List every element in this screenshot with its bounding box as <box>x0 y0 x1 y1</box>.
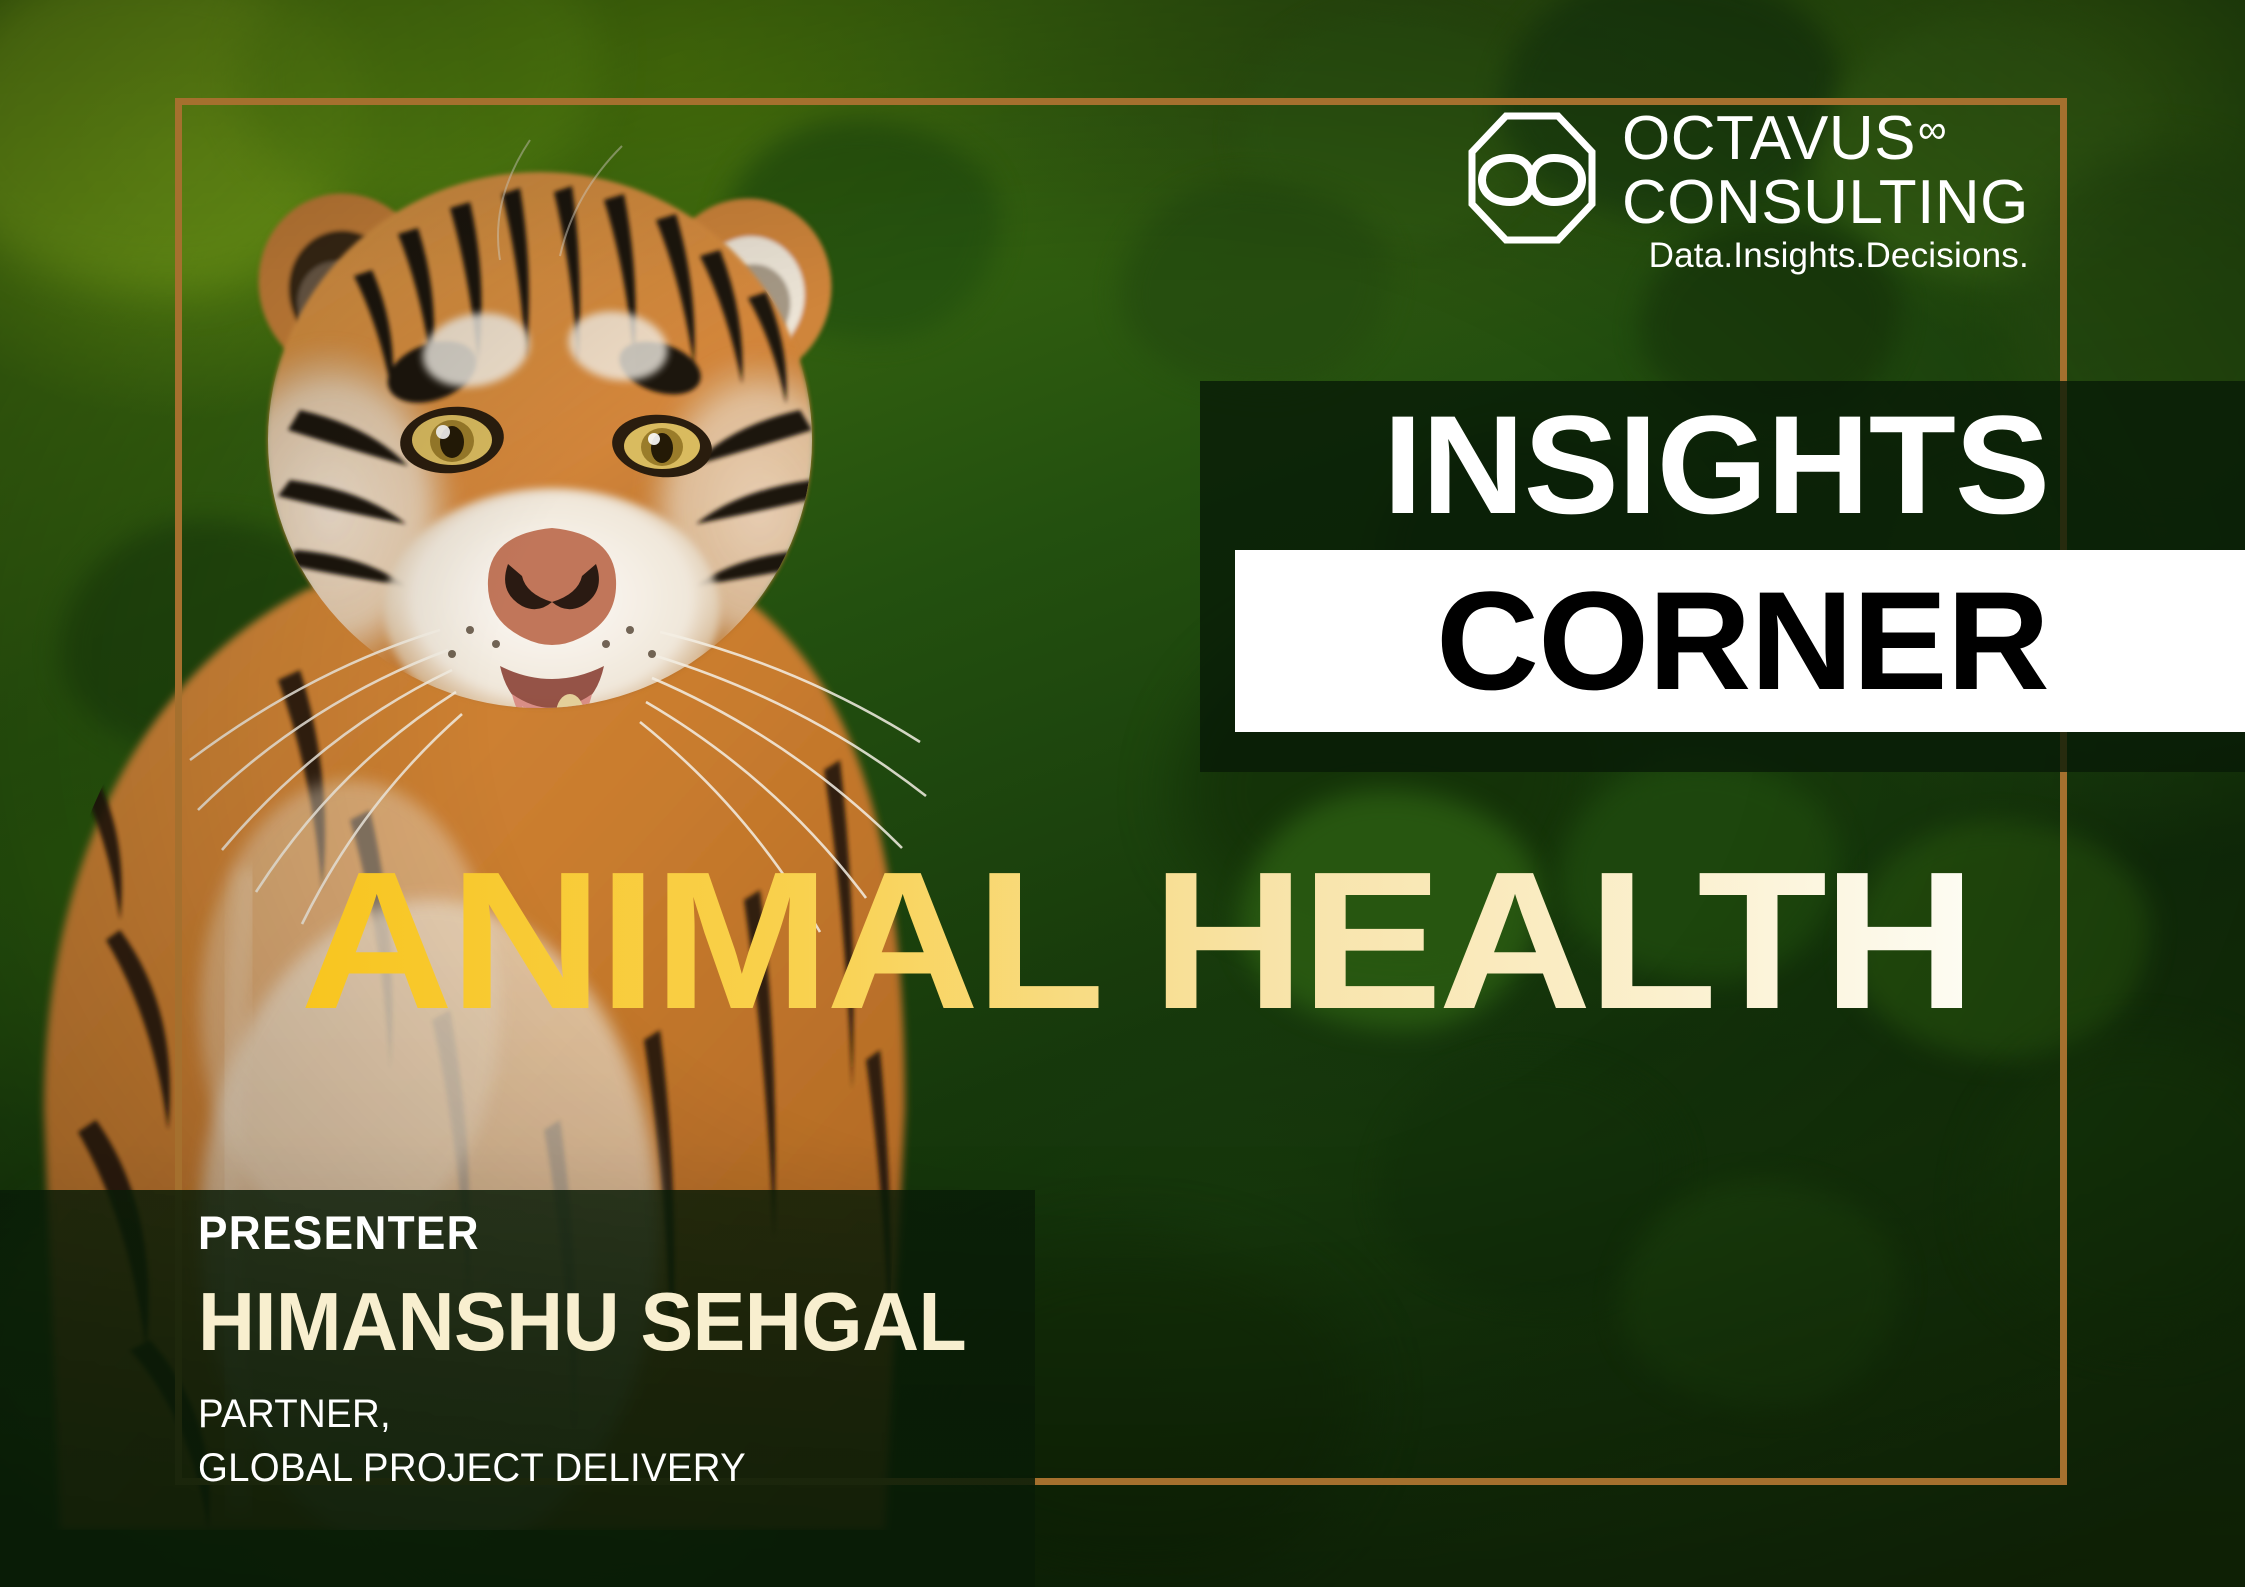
logo-octavus-text: OCTAVUS <box>1622 108 1916 170</box>
presenter-block: PRESENTER HIMANSHU SEHGAL PARTNER, GLOBA… <box>198 1205 1038 1500</box>
presenter-label: PRESENTER <box>198 1205 988 1260</box>
presenter-name: HIMANSHU SEHGAL <box>198 1274 996 1370</box>
logo-wordmark: OCTAVUS ∞ CONSULTING Data.Insights.Decis… <box>1622 108 2029 273</box>
slide-title-graphic: ANIMAL HEALTH <box>300 852 1972 1042</box>
infinity-icon: ∞ <box>1918 110 1947 150</box>
logo-tagline: Data.Insights.Decisions. <box>1622 238 2029 273</box>
logo-line-octavus: OCTAVUS ∞ <box>1622 108 2029 170</box>
octagon-infinity-icon <box>1468 112 1596 244</box>
presenter-role-line-1: PARTNER, <box>198 1392 1004 1437</box>
headline-corner-band: CORNER <box>1235 550 2245 732</box>
slide-title: ANIMAL HEALTH <box>300 852 1972 1042</box>
slide-title-text: ANIMAL HEALTH <box>300 831 1972 1050</box>
headline-insights-row: INSIGHTS <box>1200 381 2245 550</box>
slide-canvas: OCTAVUS ∞ CONSULTING Data.Insights.Decis… <box>0 0 2245 1587</box>
headline-insights: INSIGHTS <box>1383 401 2049 530</box>
presenter-role-line-2: GLOBAL PROJECT DELIVERY <box>198 1446 1004 1491</box>
headline-corner: CORNER <box>1436 577 2049 706</box>
brand-logo[interactable]: OCTAVUS ∞ CONSULTING Data.Insights.Decis… <box>1468 108 2029 273</box>
logo-line-consulting: CONSULTING <box>1622 172 2029 234</box>
